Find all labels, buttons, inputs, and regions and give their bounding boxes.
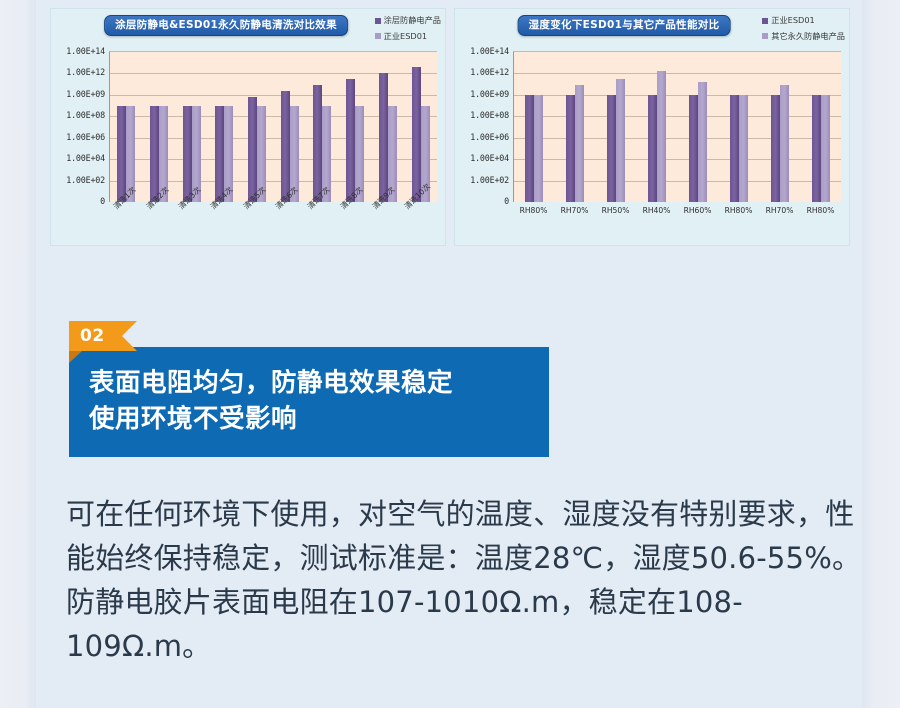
section-heading-banner: 表面电阻均匀，防静电效果稳定 使用环境不受影响 [69, 347, 549, 457]
legend-swatch-icon [762, 18, 768, 24]
x-tick-row: RH80%RH70%RH50%RH40%RH60%RH80%RH70%RH80% [513, 201, 841, 245]
bar-group [607, 52, 625, 202]
x-tick-label: RH40% [643, 206, 671, 245]
section-body-paragraph: 可在任何环境下使用，对空气的温度、湿度没有特别要求，性能始终保持稳定，测试标准是… [66, 492, 866, 668]
y-tick-label: 1.00E+06 [470, 132, 509, 142]
legend-label: 涂层防静电产品 [384, 13, 441, 29]
bar [739, 95, 748, 202]
y-tick-label: 0 [100, 196, 105, 206]
x-tick-label: RH70% [561, 206, 589, 245]
legend-swatch-icon [375, 33, 381, 39]
plot-wrapper-right: 1.00E+14 1.00E+12 1.00E+09 1.00E+08 1.00… [455, 51, 849, 201]
bar-group [689, 52, 707, 202]
heading-line-2: 使用环境不受影响 [89, 401, 529, 437]
bar-group [525, 52, 543, 202]
bar-group [566, 52, 584, 202]
bar [525, 95, 534, 202]
bar-group [183, 52, 201, 202]
bar [575, 85, 584, 202]
slide-page: 涂层防静电&ESD01永久防静电清洗对比效果 涂层防静电产品 正业ESD01 1… [0, 0, 900, 708]
y-tick-label: 1.00E+12 [66, 67, 105, 77]
left-margin-strip [0, 0, 36, 708]
bar [183, 106, 192, 202]
x-axis-right: RH80%RH70%RH50%RH40%RH60%RH80%RH70%RH80% [513, 201, 841, 245]
plot-wrapper-left: 1.00E+14 1.00E+12 1.00E+09 1.00E+08 1.00… [51, 51, 445, 201]
bar [780, 85, 789, 202]
legend-swatch-icon [375, 18, 381, 24]
bar-groups-right [514, 52, 841, 202]
x-tick-label: RH70% [766, 206, 794, 245]
bar-group [215, 52, 233, 202]
y-axis-labels-right: 1.00E+14 1.00E+12 1.00E+09 1.00E+08 1.00… [455, 51, 513, 201]
legend-item: 正业ESD01 [762, 13, 845, 29]
x-axis-left: 清洗1次清洗2次清洗3次清洗4次清洗5次清洗6次清洗7次清洗8次清洗9次清洗10… [109, 201, 437, 245]
y-tick-label: 1.00E+09 [470, 89, 509, 99]
bar [812, 95, 821, 202]
x-tick-row: 清洗1次清洗2次清洗3次清洗4次清洗5次清洗6次清洗7次清洗8次清洗9次清洗10… [109, 201, 437, 245]
bar [771, 95, 780, 202]
x-tick-label: RH50% [602, 206, 630, 245]
bar [616, 79, 625, 202]
y-tick-label: 1.00E+14 [66, 46, 105, 56]
bar-group [150, 52, 168, 202]
bar [648, 95, 657, 202]
y-tick-label: 1.00E+04 [66, 153, 105, 163]
bar [281, 91, 290, 202]
bar [730, 95, 739, 202]
bar [566, 95, 575, 202]
bar [821, 95, 830, 202]
bar [117, 106, 126, 202]
bar-group [412, 52, 430, 202]
bar [346, 79, 355, 202]
x-tick-label: RH80% [807, 206, 835, 245]
y-tick-label: 1.00E+02 [66, 175, 105, 185]
bar [689, 95, 698, 202]
y-tick-label: 1.00E+14 [470, 46, 509, 56]
legend-item: 其它永久防静电产品 [762, 29, 845, 45]
bar-group [313, 52, 331, 202]
legend-label: 正业ESD01 [384, 29, 427, 45]
x-tick-label: RH60% [684, 206, 712, 245]
bar [379, 73, 388, 202]
heading-line-1: 表面电阻均匀，防静电效果稳定 [89, 365, 529, 401]
x-tick-label: RH80% [725, 206, 753, 245]
bar-groups-left [110, 52, 437, 202]
plot-area-left [109, 51, 437, 202]
bar-group [379, 52, 397, 202]
y-tick-label: 1.00E+08 [66, 110, 105, 120]
y-tick-label: 1.00E+12 [470, 67, 509, 77]
y-axis-labels-left: 1.00E+14 1.00E+12 1.00E+09 1.00E+08 1.00… [51, 51, 109, 201]
y-tick-label: 1.00E+02 [470, 175, 509, 185]
legend-swatch-icon [762, 33, 768, 39]
legend-item: 涂层防静电产品 [375, 13, 441, 29]
content-area: 涂层防静电&ESD01永久防静电清洗对比效果 涂层防静电产品 正业ESD01 1… [36, 0, 862, 708]
chart-title-left: 涂层防静电&ESD01永久防静电清洗对比效果 [104, 15, 348, 36]
bar-group [346, 52, 364, 202]
bar-group [771, 52, 789, 202]
bar-group [730, 52, 748, 202]
chart-title-right: 湿度变化下ESD01与其它产品性能对比 [518, 15, 731, 36]
bar [698, 82, 707, 202]
bar [607, 95, 616, 202]
y-tick-label: 1.00E+08 [470, 110, 509, 120]
section-number-badge: 02 [69, 321, 137, 351]
bar [150, 106, 159, 202]
bar [412, 67, 421, 202]
chart-card-cleaning-comparison: 涂层防静电&ESD01永久防静电清洗对比效果 涂层防静电产品 正业ESD01 1… [50, 8, 446, 246]
bar-group [117, 52, 135, 202]
bar [248, 97, 257, 202]
y-tick-label: 1.00E+04 [470, 153, 509, 163]
chart-legend-left: 涂层防静电产品 正业ESD01 [375, 13, 441, 44]
bar-group [248, 52, 266, 202]
y-tick-label: 1.00E+06 [66, 132, 105, 142]
chart-legend-right: 正业ESD01 其它永久防静电产品 [762, 13, 845, 44]
legend-label: 正业ESD01 [771, 13, 814, 29]
y-tick-label: 0 [504, 196, 509, 206]
legend-label: 其它永久防静电产品 [771, 29, 845, 45]
y-tick-label: 1.00E+09 [66, 89, 105, 99]
plot-area-right [513, 51, 841, 202]
charts-strip: 涂层防静电&ESD01永久防静电清洗对比效果 涂层防静电产品 正业ESD01 1… [50, 8, 850, 246]
bar-group [812, 52, 830, 202]
chart-card-humidity-comparison: 湿度变化下ESD01与其它产品性能对比 正业ESD01 其它永久防静电产品 1.… [454, 8, 850, 246]
section-heading-block: 02 表面电阻均匀，防静电效果稳定 使用环境不受影响 [69, 347, 549, 457]
bar [657, 71, 666, 202]
x-tick-label: RH80% [520, 206, 548, 245]
bar [313, 85, 322, 202]
legend-item: 正业ESD01 [375, 29, 441, 45]
bar [534, 95, 543, 202]
bar-group [648, 52, 666, 202]
bar-group [281, 52, 299, 202]
right-margin-strip [862, 0, 900, 708]
